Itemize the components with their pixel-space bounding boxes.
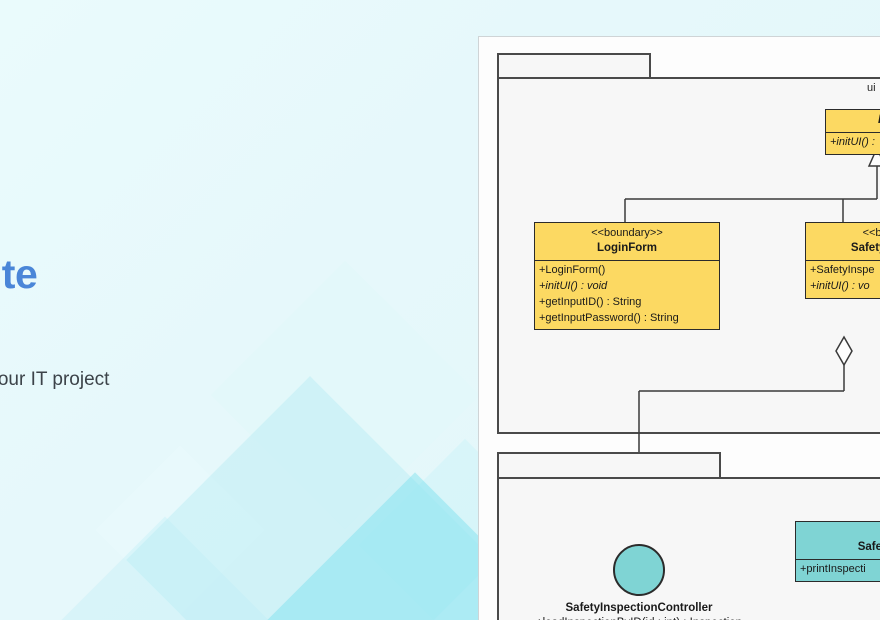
controller-name: SafetyInspectionController [514,602,764,614]
uml-class-loginform[interactable]: <<boundary>> LoginForm +LoginForm() +ini… [534,222,720,330]
class-name: LoginForm [541,241,713,256]
hero-body-line-1: anagement tools to drive your IT project [0,365,455,396]
uml-diagram-panel[interactable]: ui Fo +initUI() : [478,36,880,620]
class-operations: +initUI() : [826,133,880,154]
class-header: <<bour SafetyInsp [806,223,880,261]
class-header: <<boundary>> LoginForm [535,223,719,261]
controller-circle-icon [613,544,665,596]
class-operations: +LoginForm() +initUI() : void +getInputI… [535,261,719,330]
operation: +printInspecti [800,562,880,578]
uml-class-safetyinspectionform[interactable]: <<bour SafetyInsp +SafetyInspe +initUI()… [805,222,880,299]
class-stereotype [802,525,880,540]
page-root: ent Tool Suite uccess anagement tools to… [0,0,880,620]
class-name: Fo [832,113,880,128]
hero-subtitle: uccess [0,311,455,335]
operation: +initUI() : void [539,279,715,295]
hero-section: ent Tool Suite uccess anagement tools to… [0,250,455,435]
class-stereotype: <<boundary>> [541,226,713,241]
operation: +getInputID() : String [539,295,715,311]
uml-class-form[interactable]: Fo +initUI() : [825,109,880,155]
class-header: Safety [796,522,880,560]
class-header: Fo [826,110,880,133]
hero-body-line-2: mation. [0,404,455,435]
uml-class-safety-teal[interactable]: Safety +printInspecti [795,521,880,582]
page-title: ent Tool Suite [0,250,455,298]
uml-controller-safetyinspectioncontroller[interactable]: SafetyInspectionController +loadInspecti… [514,544,764,620]
class-operations: +SafetyInspe +initUI() : vo [806,261,880,298]
class-operations: +printInspecti [796,560,880,581]
operation: +initUI() : vo [810,279,880,295]
operation: +initUI() : [830,135,880,151]
operation: +SafetyInspe [810,263,880,279]
class-name: SafetyInsp [812,241,880,256]
class-name: Safety [802,540,880,555]
operation: +getInputPassword() : String [539,311,715,327]
class-stereotype: <<bour [812,226,880,241]
operation: +LoginForm() [539,263,715,279]
